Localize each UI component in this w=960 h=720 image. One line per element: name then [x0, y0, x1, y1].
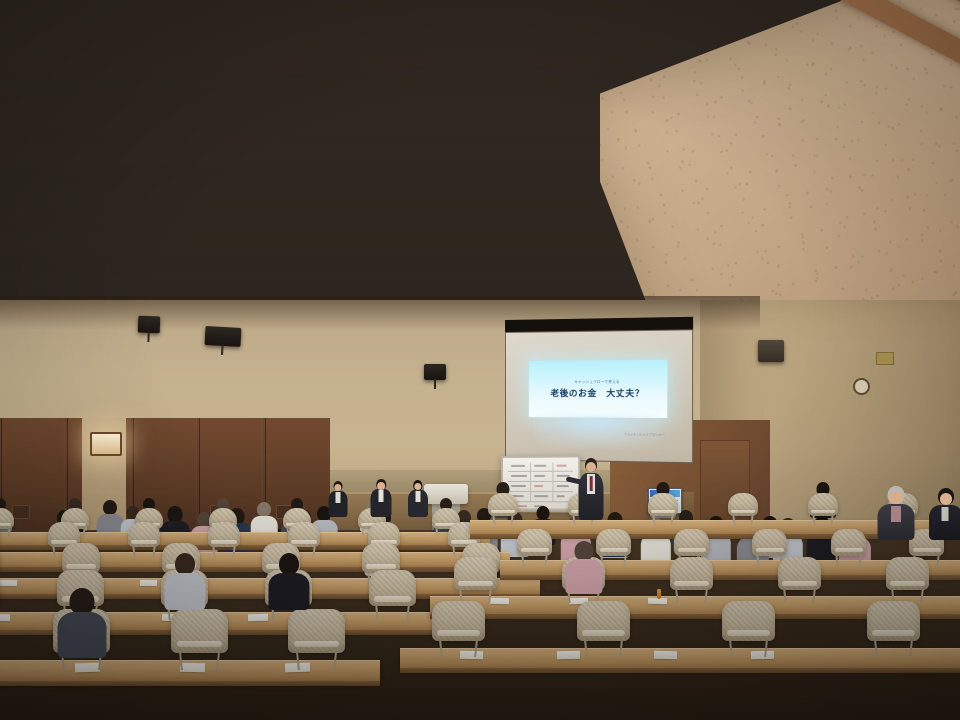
seminar-hall-photo: キャッシュフローで考える 老後のお金 大丈夫？ ファイナンシャルプランナー: [0, 0, 960, 720]
attendee-torso: [268, 573, 309, 610]
attendee-head: [279, 553, 299, 575]
attendee-head: [69, 588, 94, 615]
audience-front-rows: [0, 0, 960, 720]
audience-member: [565, 541, 602, 596]
audience-member: [57, 588, 106, 661]
presenter-face: [586, 462, 596, 472]
attendee-torso: [164, 573, 205, 610]
attendee-head: [175, 553, 195, 575]
attendee-head: [574, 541, 593, 561]
attendee-torso: [565, 559, 602, 594]
audience-member: [268, 553, 309, 612]
audience-member: [164, 553, 205, 612]
attendee-torso: [57, 612, 106, 658]
